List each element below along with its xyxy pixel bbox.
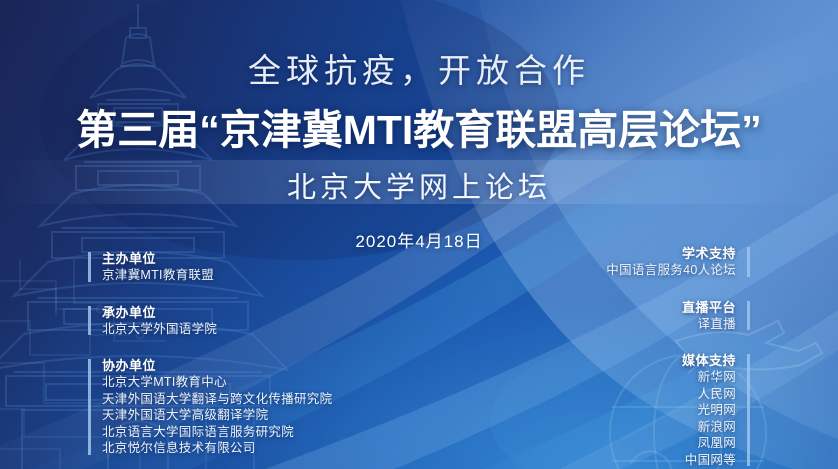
credit-heading: 主办单位 bbox=[102, 250, 332, 267]
left-credits-column: 主办单位 京津冀MTI教育联盟 承办单位 北京大学外国语学院 协办单位 北京大学… bbox=[88, 250, 332, 469]
credit-block: 主办单位 京津冀MTI教育联盟 bbox=[88, 250, 332, 284]
credit-item: 天津外国语大学翻译与跨文化传播研究院 bbox=[102, 391, 332, 408]
credit-heading: 媒体支持 bbox=[606, 352, 736, 369]
credit-item: 译直播 bbox=[606, 316, 736, 333]
credit-heading: 协办单位 bbox=[102, 357, 332, 374]
credit-item: 北京大学外国语学院 bbox=[102, 321, 332, 338]
credit-block: 承办单位 北京大学外国语学院 bbox=[88, 304, 332, 338]
credit-block: 协办单位 北京大学MTI教育中心 天津外国语大学翻译与跨文化传播研究院 天津外国… bbox=[88, 357, 332, 457]
credit-item: 新华网 bbox=[606, 369, 736, 386]
credit-item: 中国网等 bbox=[606, 452, 736, 469]
page-title: 第三届“京津冀MTI教育联盟高层论坛” bbox=[0, 96, 838, 156]
credit-item: 北京悦尔信息技术有限公司 bbox=[102, 440, 332, 457]
credit-heading: 学术支持 bbox=[606, 245, 736, 262]
credit-block: 学术支持 中国语言服务40人论坛 bbox=[606, 245, 750, 279]
credit-item: 人民网 bbox=[606, 386, 736, 403]
credit-item: 光明网 bbox=[606, 402, 736, 419]
right-credits-column: 学术支持 中国语言服务40人论坛 直播平台 译直播 媒体支持 新华网 人民网 光… bbox=[606, 245, 750, 469]
conference-poster: 全球抗疫，开放合作 第三届“京津冀MTI教育联盟高层论坛” 北京大学网上论坛 2… bbox=[0, 0, 838, 469]
poster-subtitle: 北京大学网上论坛 bbox=[0, 164, 838, 206]
credit-item: 北京语言大学国际语言服务研究院 bbox=[102, 424, 332, 441]
credit-block: 媒体支持 新华网 人民网 光明网 新浪网 凤凰网 中国网等 bbox=[606, 352, 750, 468]
credit-item: 北京大学MTI教育中心 bbox=[102, 374, 332, 391]
poster-tagline: 全球抗疫，开放合作 bbox=[0, 44, 838, 92]
credit-heading: 直播平台 bbox=[606, 299, 736, 316]
credit-item: 凤凰网 bbox=[606, 435, 736, 452]
credit-heading: 承办单位 bbox=[102, 304, 332, 321]
credit-block: 直播平台 译直播 bbox=[606, 299, 750, 333]
credit-item: 中国语言服务40人论坛 bbox=[606, 262, 736, 279]
credit-item: 天津外国语大学高级翻译学院 bbox=[102, 407, 332, 424]
credit-item: 新浪网 bbox=[606, 419, 736, 436]
credit-item: 京津冀MTI教育联盟 bbox=[102, 267, 332, 284]
